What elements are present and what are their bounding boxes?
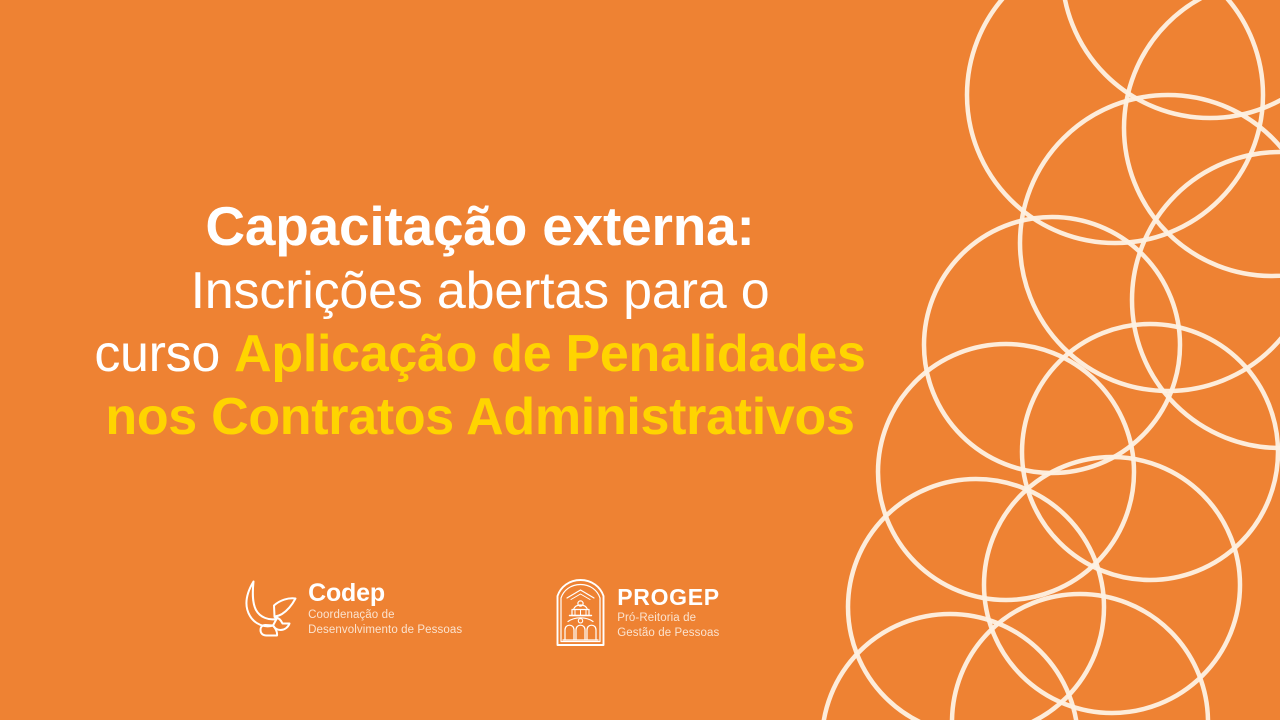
progep-text-block: PROGEP Pró-Reitoria de Gestão de Pessoas <box>617 585 720 641</box>
headline-line-3: curso Aplicação de Penalidades <box>0 325 960 383</box>
progep-subtitle-line-2: Gestão de Pessoas <box>617 626 720 641</box>
headline-line-4-course-name: nos Contratos Administrativos <box>105 388 854 446</box>
headline-block: Capacitação externa: Inscrições abertas … <box>0 196 960 446</box>
progep-title: PROGEP <box>617 585 720 609</box>
codep-subtitle-line-1: Coordenação de <box>308 608 462 623</box>
logo-progep: PROGEP Pró-Reitoria de Gestão de Pessoas <box>554 578 720 648</box>
headline-line-3-course-name: Aplicação de Penalidades <box>234 325 866 383</box>
logo-strip: Codep Coordenação de Desenvolvimento de … <box>0 578 960 648</box>
progep-subtitle: Pró-Reitoria de Gestão de Pessoas <box>617 611 720 641</box>
headline-line-4: nos Contratos Administrativos <box>0 388 960 446</box>
dove-icon <box>240 578 298 640</box>
codep-text-block: Codep Coordenação de Desenvolvimento de … <box>308 580 462 639</box>
logo-codep: Codep Coordenação de Desenvolvimento de … <box>240 578 462 640</box>
headline-line-2: Inscrições abertas para o <box>0 262 960 320</box>
progep-subtitle-line-1: Pró-Reitoria de <box>617 611 720 626</box>
promotional-banner: Capacitação externa: Inscrições abertas … <box>0 0 1280 720</box>
crest-icon <box>554 578 607 648</box>
headline-line-3-prefix: curso <box>94 325 234 383</box>
codep-subtitle: Coordenação de Desenvolvimento de Pessoa… <box>308 608 462 638</box>
headline-line-1: Capacitação externa: <box>0 196 960 258</box>
codep-subtitle-line-2: Desenvolvimento de Pessoas <box>308 623 462 638</box>
codep-title: Codep <box>308 580 462 606</box>
